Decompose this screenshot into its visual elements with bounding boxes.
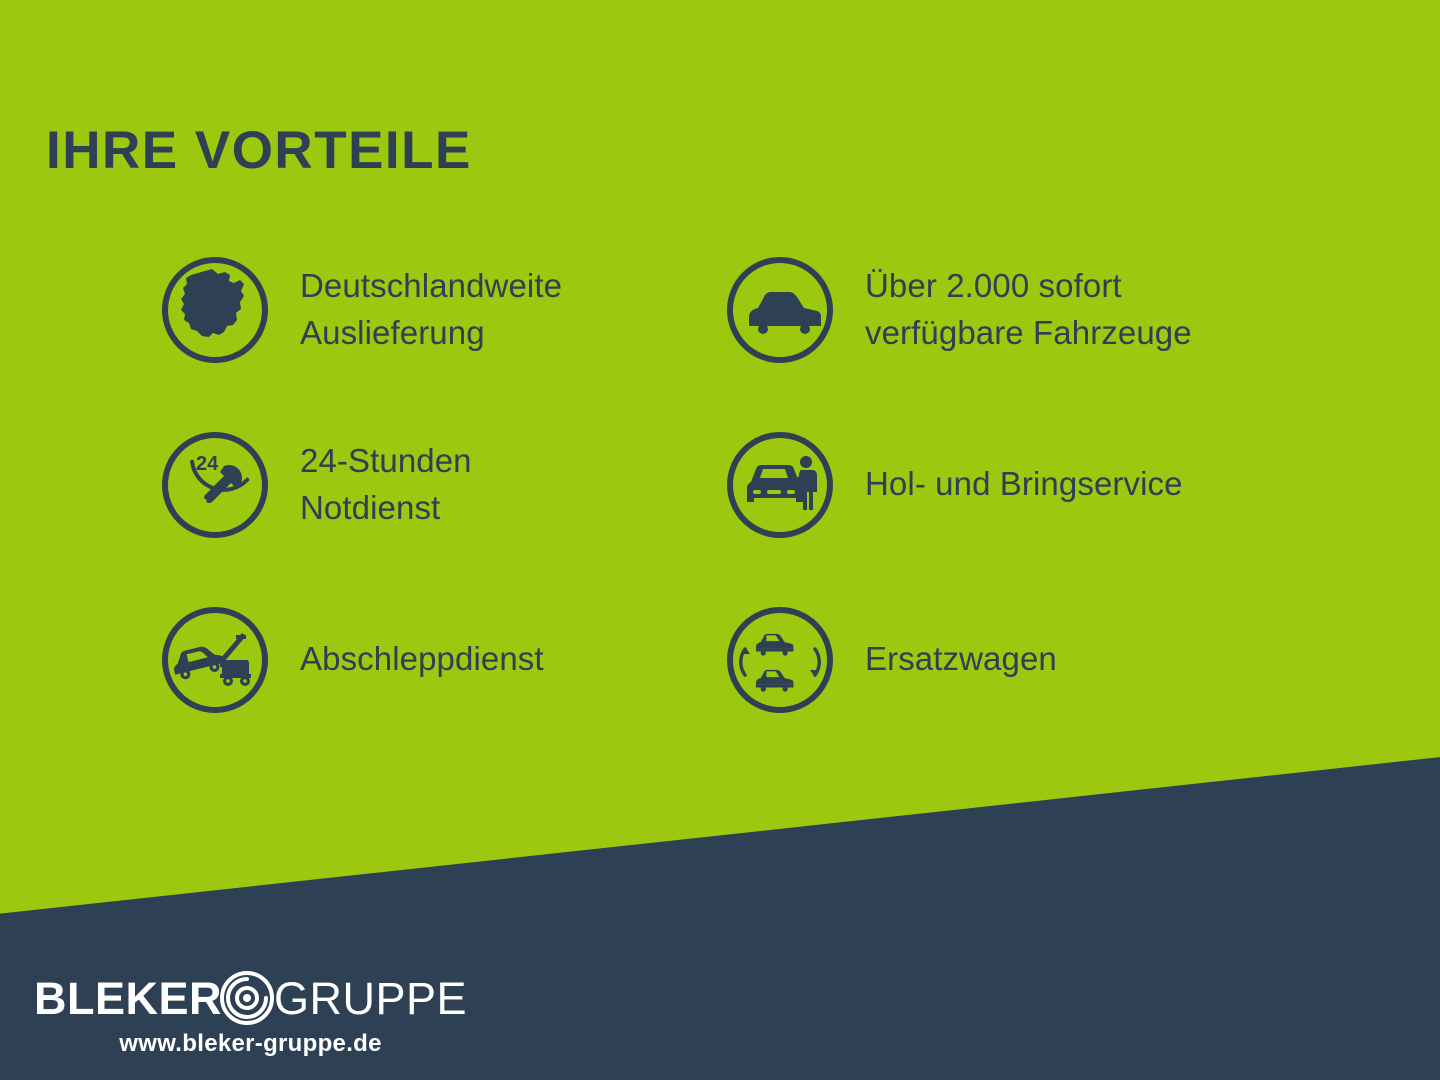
- benefit-item-deutschlandweite-auslieferung: Deutschlandweite Auslieferung: [158, 222, 723, 397]
- benefit-label: Über 2.000 sofort verfügbare Fahrzeuge: [865, 263, 1192, 357]
- 24h-badge-text: 24: [196, 453, 219, 475]
- benefit-item-abschleppdienst: Abschleppdienst: [158, 572, 723, 747]
- 24h-wrench-icon: 24: [158, 428, 272, 542]
- two-cars-exchange-icon: [723, 603, 837, 717]
- footer-logo-block: BLEKER GRUPPE www.bleker-gruppe.de: [34, 970, 467, 1058]
- logo-secondary-text: GRUPPE: [274, 976, 467, 1021]
- benefit-label: Ersatzwagen: [865, 636, 1057, 683]
- benefit-label: 24-Stunden Notdienst: [300, 438, 472, 532]
- benefit-item-24-stunden-notdienst: 24 24-Stunden Notdienst: [158, 397, 723, 572]
- benefit-item-hol-und-bringservice: Hol- und Bringservice: [723, 397, 1288, 572]
- tow-truck-icon: [158, 603, 272, 717]
- footer-website-url: www.bleker-gruppe.de: [34, 1030, 467, 1058]
- spiral-circle-icon: [216, 967, 278, 1029]
- car-with-person-icon: [723, 428, 837, 542]
- car-side-icon: [723, 253, 837, 367]
- logo-primary-text: BLEKER: [34, 976, 222, 1021]
- benefits-grid: Deutschlandweite Auslieferung Über 2.000…: [0, 222, 1440, 747]
- benefit-label: Deutschlandweite Auslieferung: [300, 263, 562, 357]
- logo-row: BLEKER GRUPPE: [34, 970, 467, 1026]
- benefit-item-ersatzwagen: Ersatzwagen: [723, 572, 1288, 747]
- germany-map-icon: [158, 253, 272, 367]
- benefit-label: Abschleppdienst: [300, 636, 544, 683]
- page-title: IHRE VORTEILE: [46, 124, 472, 177]
- benefit-item-verfuegbare-fahrzeuge: Über 2.000 sofort verfügbare Fahrzeuge: [723, 222, 1288, 397]
- slide-ihre-vorteile: IHRE VORTEILE Deutschlandweite Ausliefer…: [0, 0, 1440, 1080]
- benefit-label: Hol- und Bringservice: [865, 461, 1183, 508]
